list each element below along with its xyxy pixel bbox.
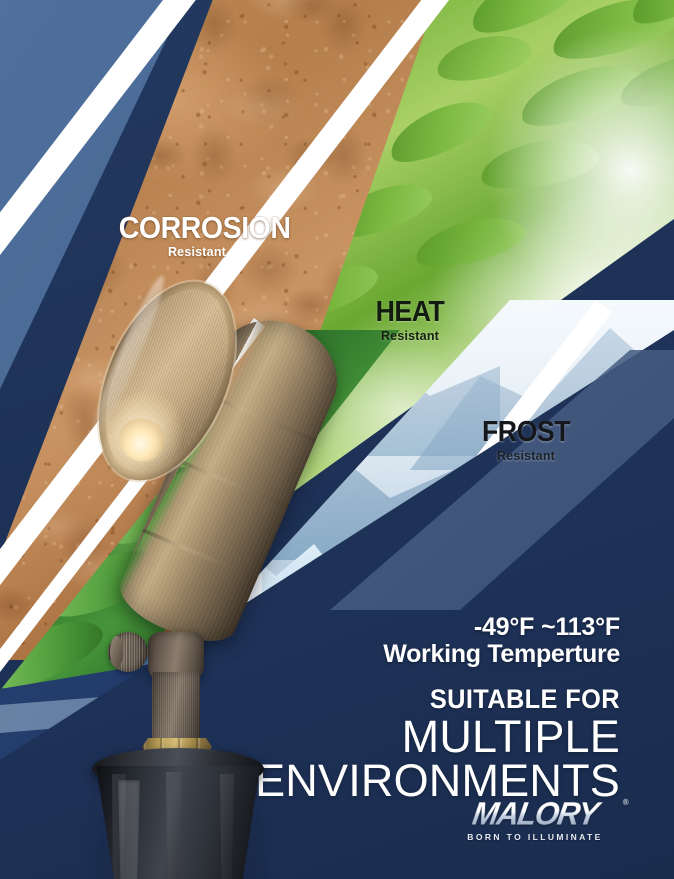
leaf-shape [477, 132, 603, 196]
stake-rib [220, 774, 234, 879]
stake-rib [166, 772, 182, 879]
knob-end-cap [110, 636, 123, 668]
feature-title: FROST [478, 418, 574, 447]
stake-highlight [118, 780, 140, 879]
feature-subtitle: Resistant [354, 330, 466, 343]
landscape-spotlight-product [60, 280, 340, 879]
registered-trademark-icon: ® [623, 798, 629, 806]
feature-title: HEAT [358, 298, 461, 327]
leaf-shape [411, 209, 529, 275]
feature-tag-frost: FROST Resistant [474, 418, 578, 463]
product-feature-poster: CORROSION Resistant HEAT Resistant FROST… [0, 0, 674, 879]
brushed-metal-texture [152, 672, 200, 744]
logo-wordmark: MALORY® [447, 797, 622, 829]
feature-subtitle: Resistant [474, 450, 578, 463]
mounting-stem [152, 672, 200, 744]
feature-title: CORROSION [119, 212, 275, 243]
leaf-shape [433, 28, 535, 87]
feature-subtitle: Resistant [112, 246, 282, 259]
logo-tagline: BORN TO ILLUMINATE [450, 832, 620, 842]
feature-tag-heat: HEAT Resistant [354, 298, 466, 343]
logo-wordmark-text: MALORY [470, 795, 600, 831]
knurled-adjustment-knob[interactable] [108, 632, 148, 672]
brand-logo: MALORY® BORN TO ILLUMINATE [450, 798, 620, 842]
lamp-glow [113, 411, 172, 468]
feature-tag-corrosion: CORROSION Resistant [112, 212, 282, 259]
